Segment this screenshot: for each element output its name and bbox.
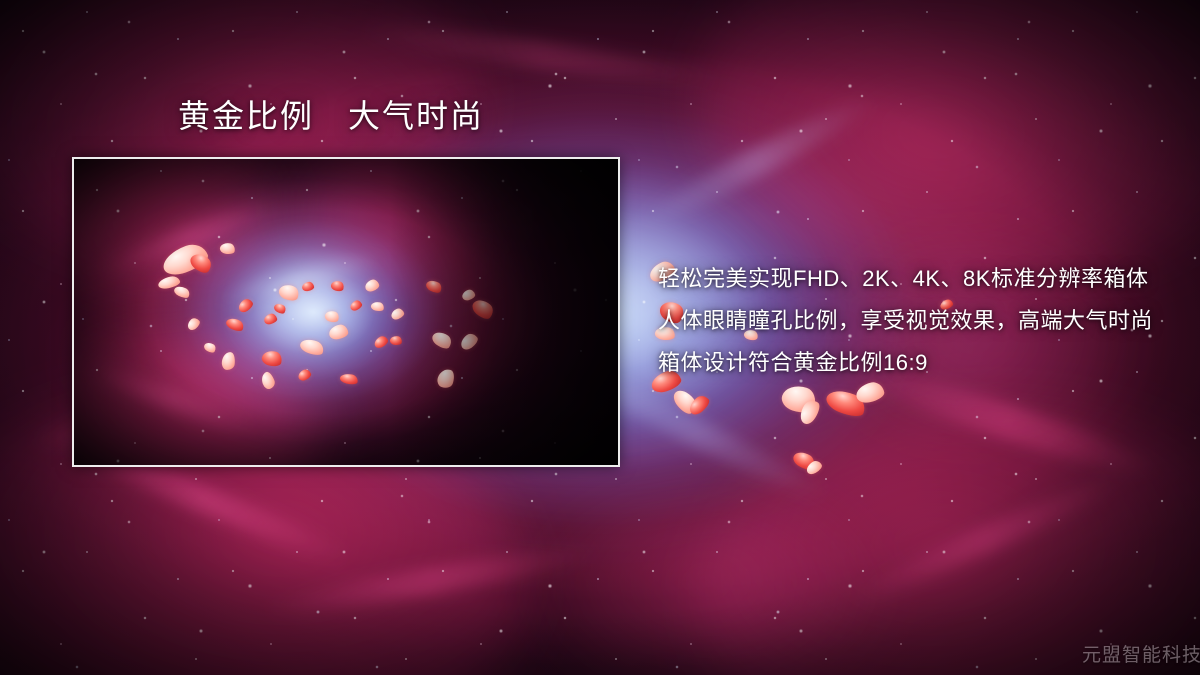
page-title: 黄金比例 大气时尚 [178,98,484,135]
presentation-slide: 黄金比例 大气时尚 轻松完美实现FHD、2K、4K、8K标准分辨率箱体 人体眼睛… [0,0,1200,675]
hero-image-nebula [74,159,618,465]
hero-vignette [74,159,618,465]
hero-image-frame [72,157,620,467]
body-line-1: 轻松完美实现FHD、2K、4K、8K标准分辨率箱体 [658,258,1158,300]
body-line-3: 箱体设计符合黄金比例16:9 [658,342,1158,384]
body-line-2: 人体眼睛瞳孔比例，享受视觉效果，高端大气时尚 [658,300,1158,342]
watermark: 元盟智能科技 [1082,640,1200,667]
body-text-block: 轻松完美实现FHD、2K、4K、8K标准分辨率箱体 人体眼睛瞳孔比例，享受视觉效… [658,258,1158,384]
